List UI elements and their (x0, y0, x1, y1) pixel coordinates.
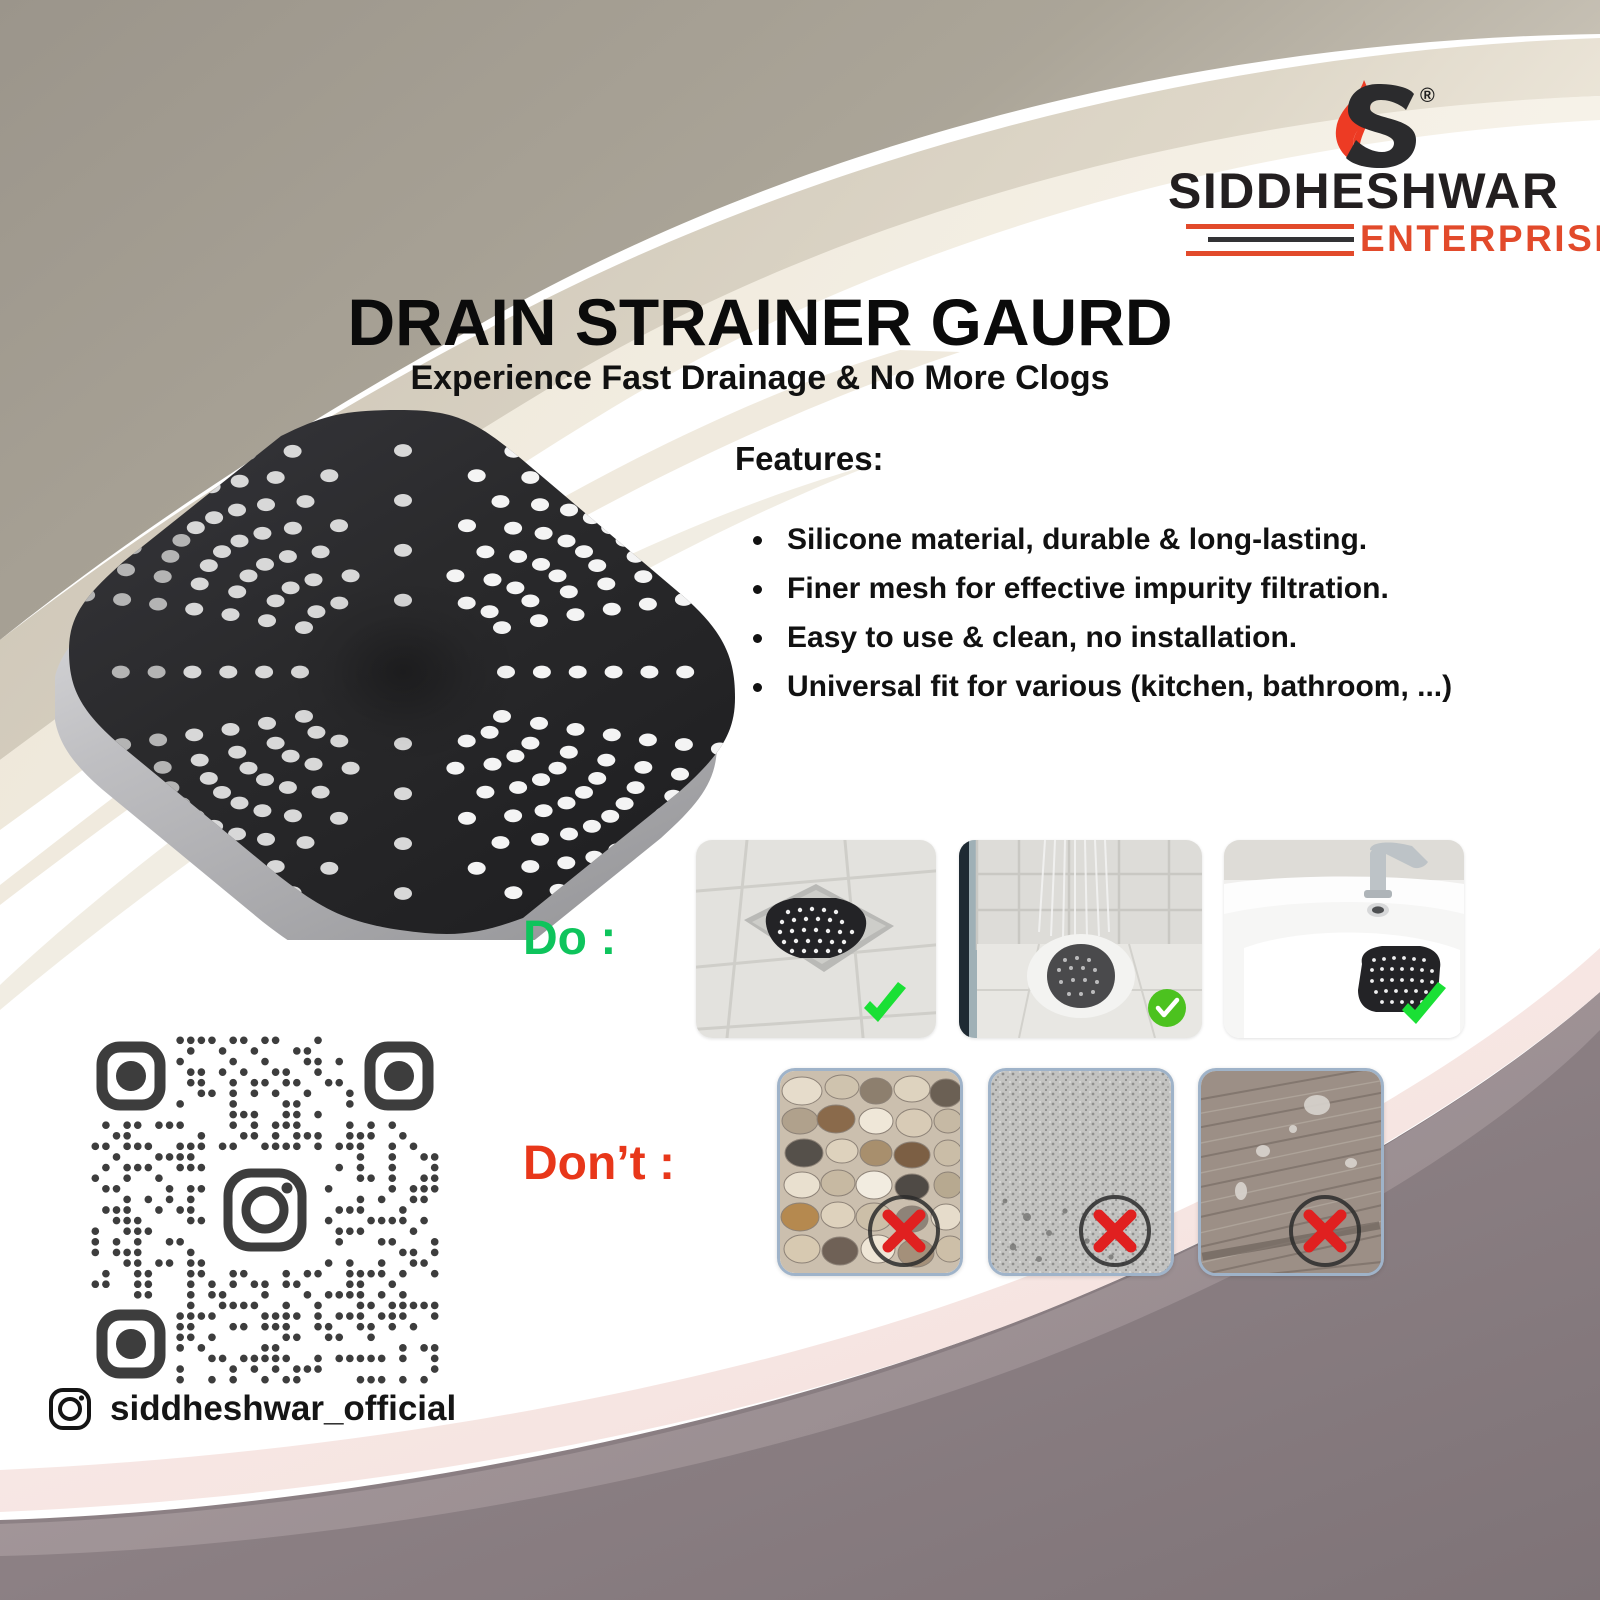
page-subtitle: Experience Fast Drainage & No More Clogs (0, 358, 1520, 399)
poster-canvas: ® SIDDHESHWAR ENTERPRISE DRAIN STRAINER … (0, 0, 1600, 1600)
dont-thumb-concrete-surface (988, 1068, 1174, 1276)
dont-label: Don’t : (523, 1140, 675, 1188)
do-thumb-floor-drain (696, 840, 936, 1038)
page-title: DRAIN STRAINER GAURD (0, 288, 1520, 357)
registered-mark: ® (1420, 86, 1435, 106)
product-image (55, 400, 745, 940)
feature-item: Finer mesh for effective impurity filtra… (735, 569, 1545, 609)
feature-item: Silicone material, durable & long-lastin… (735, 520, 1545, 560)
flame-s-icon (1318, 78, 1428, 170)
brand-tagline: ENTERPRISE (1354, 220, 1600, 257)
dont-thumb-pebble-surface (777, 1068, 963, 1276)
instagram-handle-text: siddheshwar_official (110, 1387, 456, 1431)
features-heading: Features: (735, 440, 1545, 478)
dont-thumb-wood-surface (1198, 1068, 1384, 1276)
brand-name: SIDDHESHWAR (1168, 166, 1540, 216)
instagram-icon (48, 1387, 92, 1431)
do-thumb-sink-basin (1224, 840, 1464, 1038)
instagram-qr-code[interactable] (90, 1035, 440, 1385)
instagram-handle[interactable]: siddheshwar_official (48, 1385, 508, 1437)
check-badge-icon (1148, 989, 1186, 1027)
features-list: Silicone material, durable & long-lastin… (735, 520, 1545, 707)
brand-logo: ® SIDDHESHWAR ENTERPRISE (1168, 78, 1540, 263)
instagram-icon (224, 1169, 306, 1251)
feature-item: Universal fit for various (kitchen, bath… (735, 667, 1545, 707)
do-thumb-shower-floor (959, 840, 1202, 1038)
features-section: Features: Silicone material, durable & l… (735, 440, 1545, 716)
do-label: Do : (523, 915, 616, 963)
feature-item: Easy to use & clean, no installation. (735, 618, 1545, 658)
